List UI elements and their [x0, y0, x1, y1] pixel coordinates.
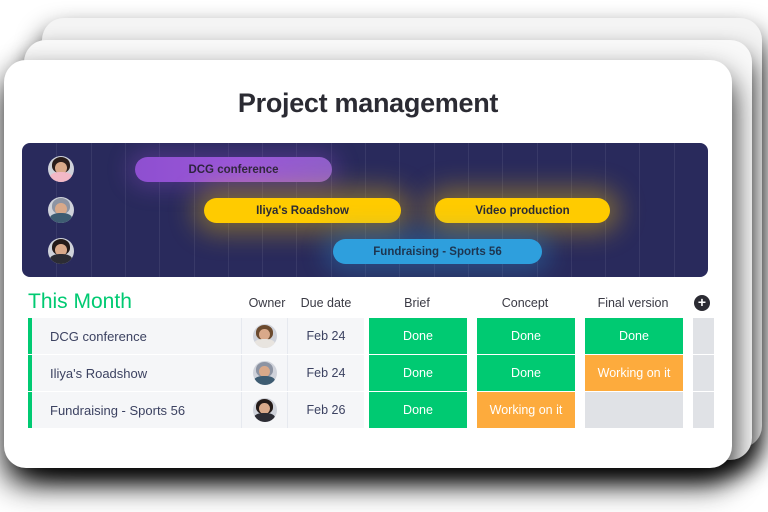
- cell-due-date[interactable]: Feb 24: [288, 355, 364, 391]
- cell-status-concept[interactable]: Done: [475, 355, 575, 391]
- timeline-row: DCG conference: [22, 149, 708, 190]
- owner-avatar[interactable]: [253, 324, 277, 348]
- owner-avatar[interactable]: [253, 361, 277, 385]
- table-row[interactable]: DCG conferenceFeb 24DoneDoneDone: [22, 318, 714, 354]
- cell-due-date[interactable]: Feb 26: [288, 392, 364, 428]
- column-header-final-version[interactable]: Final version: [583, 296, 683, 310]
- column-header-owner[interactable]: Owner: [244, 296, 290, 310]
- cell-status-brief[interactable]: Done: [367, 355, 467, 391]
- owner-avatar[interactable]: [253, 398, 277, 422]
- project-management-card: Project management DCG conferenceIliya's…: [4, 60, 732, 468]
- cell-status-final-version[interactable]: [583, 392, 683, 428]
- page-title: Project management: [4, 88, 732, 119]
- cell-owner[interactable]: [242, 355, 288, 391]
- cell-extra-column[interactable]: [691, 318, 714, 354]
- column-header-brief[interactable]: Brief: [367, 296, 467, 310]
- cell-status-final-version[interactable]: Working on it: [583, 355, 683, 391]
- cell-status-concept[interactable]: Done: [475, 318, 575, 354]
- column-header-concept[interactable]: Concept: [475, 296, 575, 310]
- cell-extra-column[interactable]: [691, 355, 714, 391]
- cell-status-concept[interactable]: Working on it: [475, 392, 575, 428]
- avatar-owner-3[interactable]: [48, 238, 74, 264]
- timeline-bar[interactable]: Video production: [435, 198, 610, 223]
- timeline-bar-label: Iliya's Roadshow: [256, 205, 349, 217]
- cell-item-name[interactable]: DCG conference: [32, 318, 242, 354]
- cell-due-date[interactable]: Feb 24: [288, 318, 364, 354]
- table-row[interactable]: Fundraising - Sports 56Feb 26DoneWorking…: [22, 392, 714, 428]
- board-header: This Month OwnerDue dateBriefConceptFina…: [22, 290, 714, 318]
- board-rows: DCG conferenceFeb 24DoneDoneDoneIliya's …: [22, 318, 714, 428]
- timeline-bar[interactable]: Fundraising - Sports 56: [333, 239, 542, 264]
- timeline-bar-label: Fundraising - Sports 56: [373, 246, 501, 258]
- avatar-owner-2[interactable]: [48, 197, 74, 223]
- cell-status-brief[interactable]: Done: [367, 392, 467, 428]
- column-header-due-date[interactable]: Due date: [288, 296, 364, 310]
- cell-owner[interactable]: [242, 392, 288, 428]
- cell-status-final-version[interactable]: Done: [583, 318, 683, 354]
- board-group-title[interactable]: This Month: [28, 290, 132, 314]
- timeline-row: Iliya's RoadshowVideo production: [22, 190, 708, 231]
- cell-item-name[interactable]: Iliya's Roadshow: [32, 355, 242, 391]
- board: This Month OwnerDue dateBriefConceptFina…: [22, 290, 714, 429]
- cell-owner[interactable]: [242, 318, 288, 354]
- timeline-row: Fundraising - Sports 56: [22, 231, 708, 272]
- table-row[interactable]: Iliya's RoadshowFeb 24DoneDoneWorking on…: [22, 355, 714, 391]
- screenshot-root: Project management DCG conferenceIliya's…: [0, 0, 768, 512]
- add-column-plus-icon[interactable]: +: [694, 295, 710, 311]
- timeline-bar-label: Video production: [475, 205, 569, 217]
- cell-extra-column[interactable]: [691, 392, 714, 428]
- cell-item-name[interactable]: Fundraising - Sports 56: [32, 392, 242, 428]
- timeline-bar[interactable]: Iliya's Roadshow: [204, 198, 401, 223]
- timeline-panel[interactable]: DCG conferenceIliya's RoadshowVideo prod…: [22, 143, 708, 277]
- avatar-owner-1[interactable]: [48, 156, 74, 182]
- timeline-bar[interactable]: DCG conference: [135, 157, 332, 182]
- cell-status-brief[interactable]: Done: [367, 318, 467, 354]
- timeline-bar-label: DCG conference: [188, 164, 278, 176]
